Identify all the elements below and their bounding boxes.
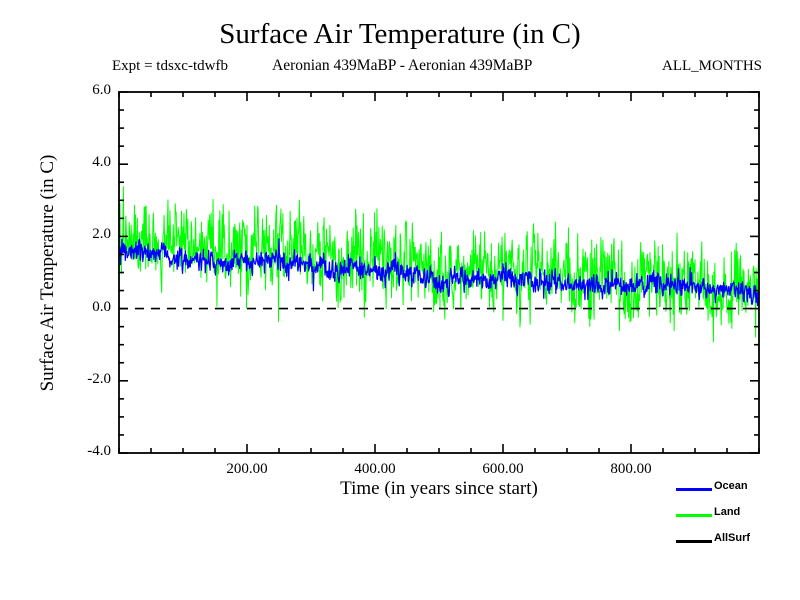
y-tick-label: -2.0 <box>51 371 111 388</box>
legend-swatch-allsurf <box>676 540 712 543</box>
x-tick-label: 200.00 <box>202 461 292 478</box>
x-tick-label: 600.00 <box>458 461 548 478</box>
legend-item-land[interactable]: Land <box>676 506 786 526</box>
legend-swatch-land <box>676 514 712 517</box>
y-tick-label: -4.0 <box>51 443 111 460</box>
legend-label: AllSurf <box>714 532 750 544</box>
legend-item-allsurf[interactable]: AllSurf <box>676 532 786 552</box>
x-tick-label: 400.00 <box>330 461 420 478</box>
legend-swatch-ocean <box>676 488 712 491</box>
y-tick-label: 0.0 <box>51 299 111 316</box>
legend-label: Land <box>714 506 740 518</box>
chart-figure: Surface Air Temperature (in C) Expt = td… <box>0 0 800 600</box>
x-tick-label: 800.00 <box>586 461 676 478</box>
chart-legend: OceanLandAllSurf <box>676 480 786 560</box>
legend-item-ocean[interactable]: Ocean <box>676 480 786 500</box>
y-tick-label: 4.0 <box>51 154 111 171</box>
y-tick-label: 6.0 <box>51 82 111 99</box>
y-tick-label: 2.0 <box>51 226 111 243</box>
legend-label: Ocean <box>714 480 748 492</box>
